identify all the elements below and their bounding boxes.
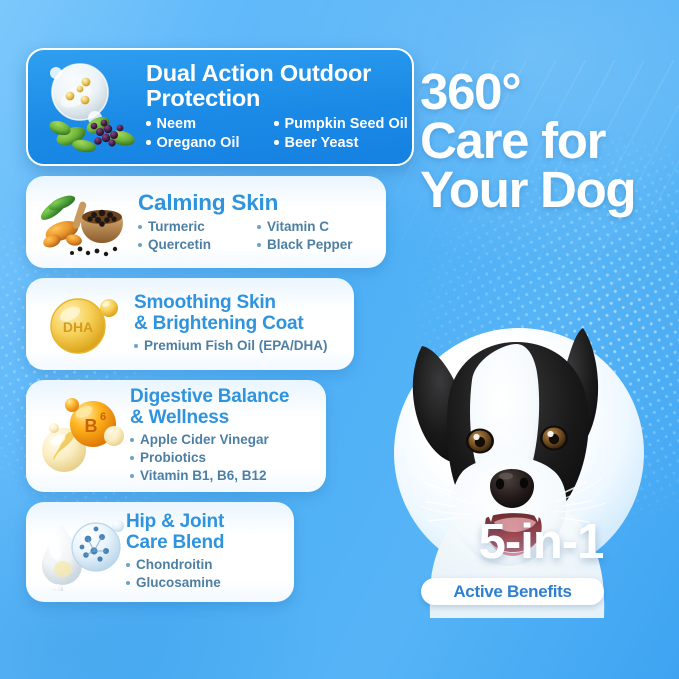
headline-line-1: 360°: [420, 68, 672, 117]
capsule-herbs-berries-icon: [36, 54, 146, 160]
benefit-card-digestive-balance-wellness[interactable]: B 6 Digestive Balance & Wellness Apple C…: [26, 380, 326, 492]
card-title-line-1: Dual Action Outdoor: [146, 60, 371, 86]
card-title: Calming Skin: [138, 191, 376, 215]
bullet-dot-icon: [274, 140, 279, 145]
svg-text:B: B: [85, 416, 98, 436]
card-bullet-item: Premium Fish Oil (EPA/DHA): [134, 337, 344, 355]
b6-vitamin-sphere-icon: B 6: [34, 390, 130, 482]
bullet-dot-icon: [257, 243, 261, 247]
card-title-line-1: Hip & Joint: [126, 511, 224, 532]
card-title: Dual Action Outdoor Protection: [146, 61, 402, 111]
card-bullet-item: Neem: [146, 115, 274, 134]
hero-dog-image: [378, 318, 678, 618]
benefit-card-hip-joint-care-blend[interactable]: Hip & Joint Care Blend Chondroitin Gluco…: [26, 502, 294, 602]
card-title-line-2: & Wellness: [130, 407, 229, 428]
five-in-one-title: 5-in-1: [412, 518, 670, 567]
bullet-dot-icon: [130, 456, 134, 460]
svg-text:DHA: DHA: [63, 319, 93, 335]
headline-line-2: Care for: [420, 117, 672, 166]
status-badge: Active Benefits: [421, 578, 604, 605]
bullet-dot-icon: [130, 474, 134, 478]
card-title-line-1: Digestive Balance: [130, 386, 289, 407]
card-bullet-list: Turmeric Vitamin C Quercetin Black Peppe…: [138, 218, 376, 254]
card-text-block: Digestive Balance & Wellness Apple Cider…: [130, 387, 316, 484]
card-bullet-item: Apple Cider Vinegar: [130, 431, 316, 449]
bullet-dot-icon: [138, 225, 142, 229]
card-text-block: Calming Skin Turmeric Vitamin C Querceti…: [138, 191, 376, 254]
bullet-dot-icon: [257, 225, 261, 229]
benefit-card-smoothing-skin-brightening-coat[interactable]: DHA Smoothing Skin & Brightening Coat Pr…: [26, 278, 354, 370]
dha-softgel-icon: DHA: [34, 284, 134, 364]
card-text-block: Dual Action Outdoor Protection Neem Pump…: [146, 61, 402, 153]
card-bullet-list: Premium Fish Oil (EPA/DHA): [134, 337, 344, 355]
bullet-dot-icon: [126, 581, 130, 585]
card-bullet-item: Quercetin: [138, 236, 257, 254]
benefit-card-list: Dual Action Outdoor Protection Neem Pump…: [26, 48, 414, 612]
card-bullet-item: Oregano Oil: [146, 134, 274, 153]
card-title-line-2: Protection: [146, 85, 260, 111]
bullet-dot-icon: [126, 563, 130, 567]
bullet-dot-icon: [134, 344, 138, 348]
svg-text:6: 6: [100, 411, 106, 423]
card-bullet-item: Chondroitin: [126, 556, 284, 574]
card-title-line-1: Smoothing Skin: [134, 292, 276, 313]
card-bullet-list: Neem Pumpkin Seed Oil Oregano Oil Beer Y…: [146, 115, 402, 153]
border-collie-illustration: [378, 318, 678, 618]
status-badge-label: Active Benefits: [453, 582, 571, 602]
card-bullet-item: Vitamin C: [257, 218, 376, 236]
card-bullet-list: Chondroitin Glucosamine: [126, 556, 284, 592]
card-title: Digestive Balance & Wellness: [130, 387, 316, 428]
card-text-block: Smoothing Skin & Brightening Coat Premiu…: [134, 293, 344, 354]
droplet-molecule-icon: [34, 511, 126, 593]
card-bullet-item: Probiotics: [130, 449, 316, 467]
bullet-dot-icon: [146, 121, 151, 126]
card-bullet-item: Turmeric: [138, 218, 257, 236]
card-bullet-item: Glucosamine: [126, 574, 284, 592]
benefit-card-dual-action-outdoor-protection[interactable]: Dual Action Outdoor Protection Neem Pump…: [26, 48, 414, 166]
benefit-card-calming-skin[interactable]: Calming Skin Turmeric Vitamin C Querceti…: [26, 176, 386, 268]
card-title: Smoothing Skin & Brightening Coat: [134, 293, 344, 334]
page-title: 360° Care for Your Dog: [420, 68, 672, 215]
bullet-dot-icon: [138, 243, 142, 247]
headline-line-3: Your Dog: [420, 166, 672, 215]
card-bullet-item: Beer Yeast: [274, 134, 402, 153]
bullet-dot-icon: [130, 438, 134, 442]
turmeric-black-pepper-icon: [34, 181, 138, 263]
card-bullet-item: Pumpkin Seed Oil: [274, 115, 402, 134]
card-bullet-item: Black Pepper: [257, 236, 376, 254]
bullet-dot-icon: [146, 140, 151, 145]
card-bullet-list: Apple Cider Vinegar Probiotics Vitamin B…: [130, 431, 316, 484]
card-title: Hip & Joint Care Blend: [126, 512, 284, 553]
card-text-block: Hip & Joint Care Blend Chondroitin Gluco…: [126, 512, 284, 591]
card-title-line-2: Care Blend: [126, 532, 224, 553]
card-bullet-item: Vitamin B1, B6, B12: [130, 467, 316, 485]
card-title-line-2: & Brightening Coat: [134, 313, 304, 334]
bullet-dot-icon: [274, 121, 279, 126]
